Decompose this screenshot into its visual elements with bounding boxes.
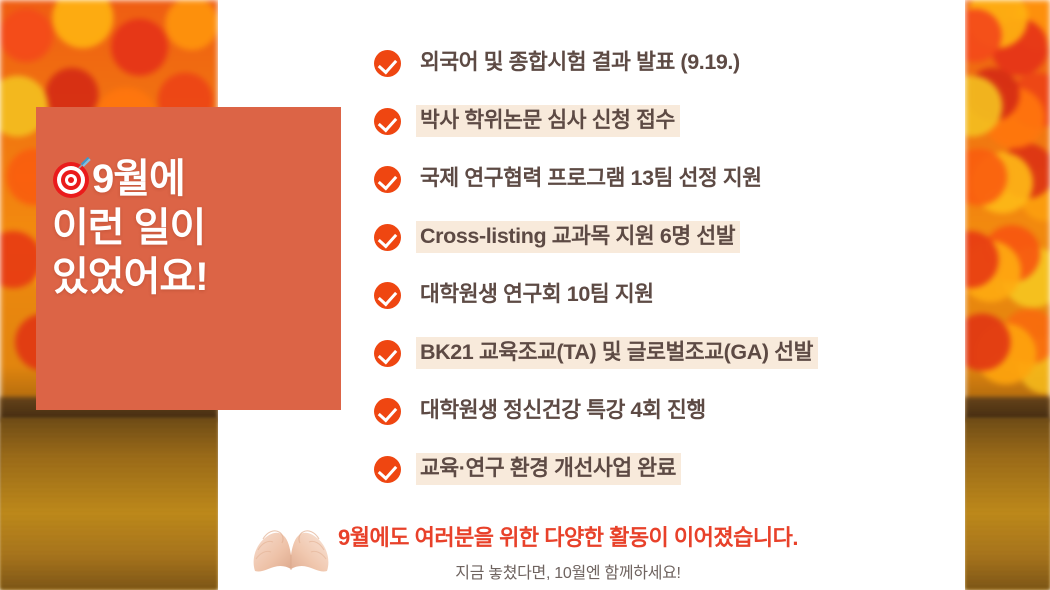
check-circle-icon [374, 108, 401, 135]
list-item-label: 대학원생 정신건강 특강 4회 진행 [416, 395, 711, 428]
list-item-label: 외국어 및 종합시험 결과 발표 (9.19.) [416, 47, 745, 80]
check-circle-icon [374, 340, 401, 367]
headline-text-1: 9월에 [92, 157, 185, 201]
check-circle-icon [374, 166, 401, 193]
check-circle-icon [374, 224, 401, 251]
dart-board-icon [52, 161, 90, 199]
checklist: 외국어 및 종합시험 결과 발표 (9.19.) 박사 학위논문 심사 신청 접… [374, 34, 934, 498]
list-item: 대학원생 연구회 10팀 지원 [374, 266, 934, 324]
footer: 9월에도 여러분을 위한 다양한 활동이 이어졌습니다. 지금 놓쳤다면, 10… [0, 520, 1050, 583]
list-item: 외국어 및 종합시험 결과 발표 (9.19.) [374, 34, 934, 92]
list-item-label: Cross-listing 교과목 지원 6명 선발 [416, 221, 740, 254]
check-circle-icon [374, 50, 401, 77]
list-item-label: 대학원생 연구회 10팀 지원 [416, 279, 659, 312]
list-item: 박사 학위논문 심사 신청 접수 [374, 92, 934, 150]
page-title: 9월에 이런 일이 있었어요! [52, 155, 352, 301]
list-item: 국제 연구협력 프로그램 13팀 선정 지원 [374, 150, 934, 208]
list-item: 대학원생 정신건강 특강 4회 진행 [374, 382, 934, 440]
list-item-label: 교육·연구 환경 개선사업 완료 [416, 453, 681, 486]
list-item: Cross-listing 교과목 지원 6명 선발 [374, 208, 934, 266]
list-item-label: BK21 교육조교(TA) 및 글로벌조교(GA) 선발 [416, 337, 818, 370]
headline-line-2: 이런 일이 [52, 204, 352, 253]
footer-headline: 9월에도 여러분을 위한 다양한 활동이 이어졌습니다. [338, 525, 798, 550]
check-circle-icon [374, 456, 401, 483]
check-circle-icon [374, 398, 401, 425]
heart-hands-icon [252, 521, 330, 583]
headline-line-1: 9월에 [52, 155, 352, 204]
list-item: 교육·연구 환경 개선사업 완료 [374, 440, 934, 498]
footer-subline: 지금 놓쳤다면, 10월엔 함께하세요! [338, 559, 798, 583]
poster-canvas: 9월에 이런 일이 있었어요! 외국어 및 종합시험 결과 발표 (9.19.)… [0, 0, 1050, 590]
list-item-label: 박사 학위논문 심사 신청 접수 [416, 105, 680, 138]
list-item: BK21 교육조교(TA) 및 글로벌조교(GA) 선발 [374, 324, 934, 382]
check-circle-icon [374, 282, 401, 309]
list-item-label: 국제 연구협력 프로그램 13팀 선정 지원 [416, 163, 767, 196]
headline-line-3: 있었어요! [52, 253, 352, 302]
footer-text-block: 9월에도 여러분을 위한 다양한 활동이 이어졌습니다. 지금 놓쳤다면, 10… [338, 520, 798, 583]
right-autumn-photo [965, 0, 1050, 590]
